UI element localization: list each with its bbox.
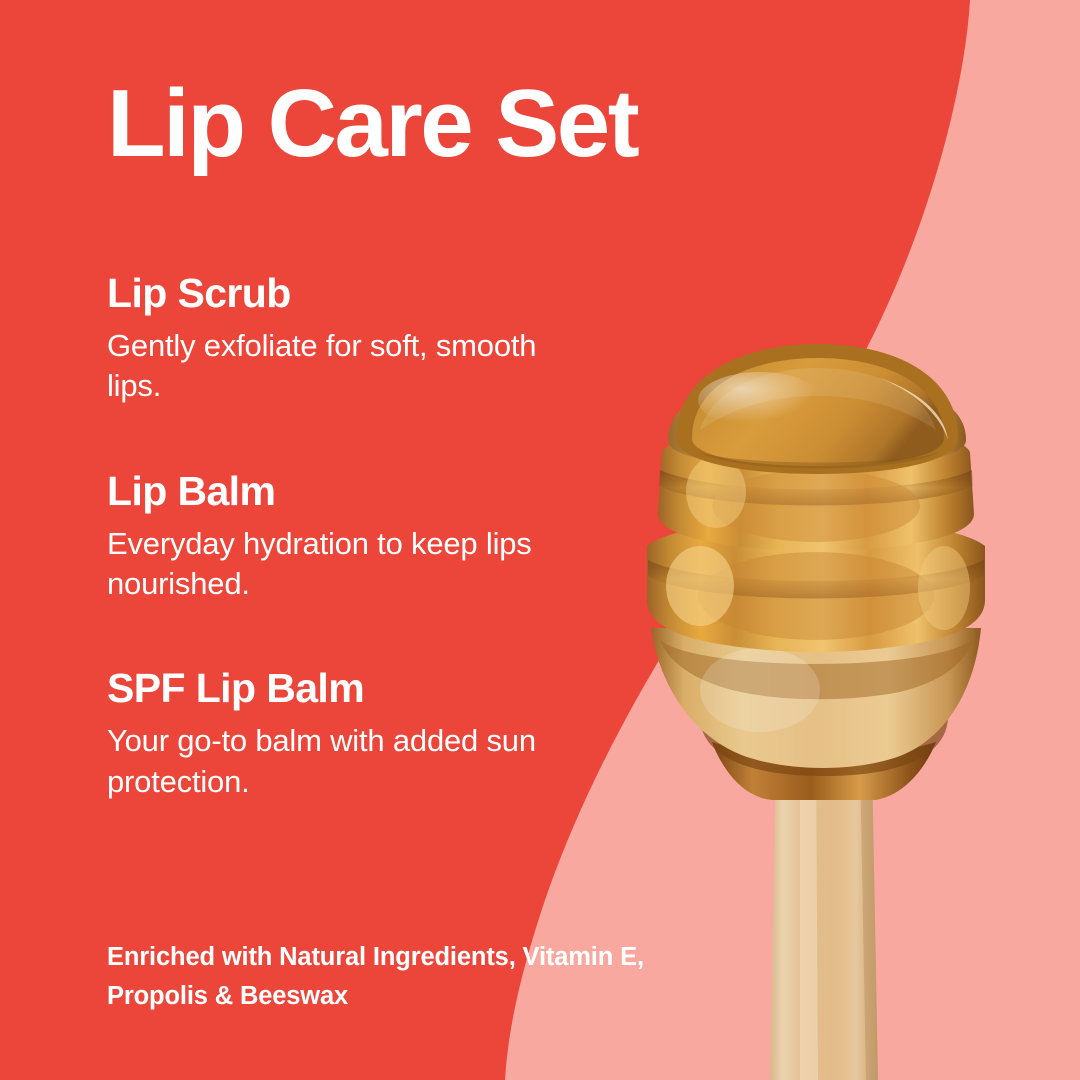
- lip-care-set-poster: Lip Care Set Lip Scrub Gently exfoliate …: [0, 0, 1080, 1080]
- product-name-lip-balm: Lip Balm: [107, 470, 577, 513]
- product-list: Lip Scrub Gently exfoliate for soft, smo…: [107, 272, 577, 802]
- footer-ingredients-note: Enriched with Natural Ingredients, Vitam…: [107, 938, 747, 1016]
- page-title: Lip Care Set: [107, 76, 637, 172]
- product-name-spf-lip-balm: SPF Lip Balm: [107, 667, 577, 710]
- product-description-spf-lip-balm: Your go-to balm with added sun protectio…: [107, 721, 577, 802]
- list-item: SPF Lip Balm Your go-to balm with added …: [107, 667, 577, 802]
- product-description-lip-scrub: Gently exfoliate for soft, smooth lips.: [107, 326, 577, 407]
- list-item: Lip Balm Everyday hydration to keep lips…: [107, 470, 577, 605]
- list-item: Lip Scrub Gently exfoliate for soft, smo…: [107, 272, 577, 407]
- product-name-lip-scrub: Lip Scrub: [107, 272, 577, 315]
- product-description-lip-balm: Everyday hydration to keep lips nourishe…: [107, 524, 577, 605]
